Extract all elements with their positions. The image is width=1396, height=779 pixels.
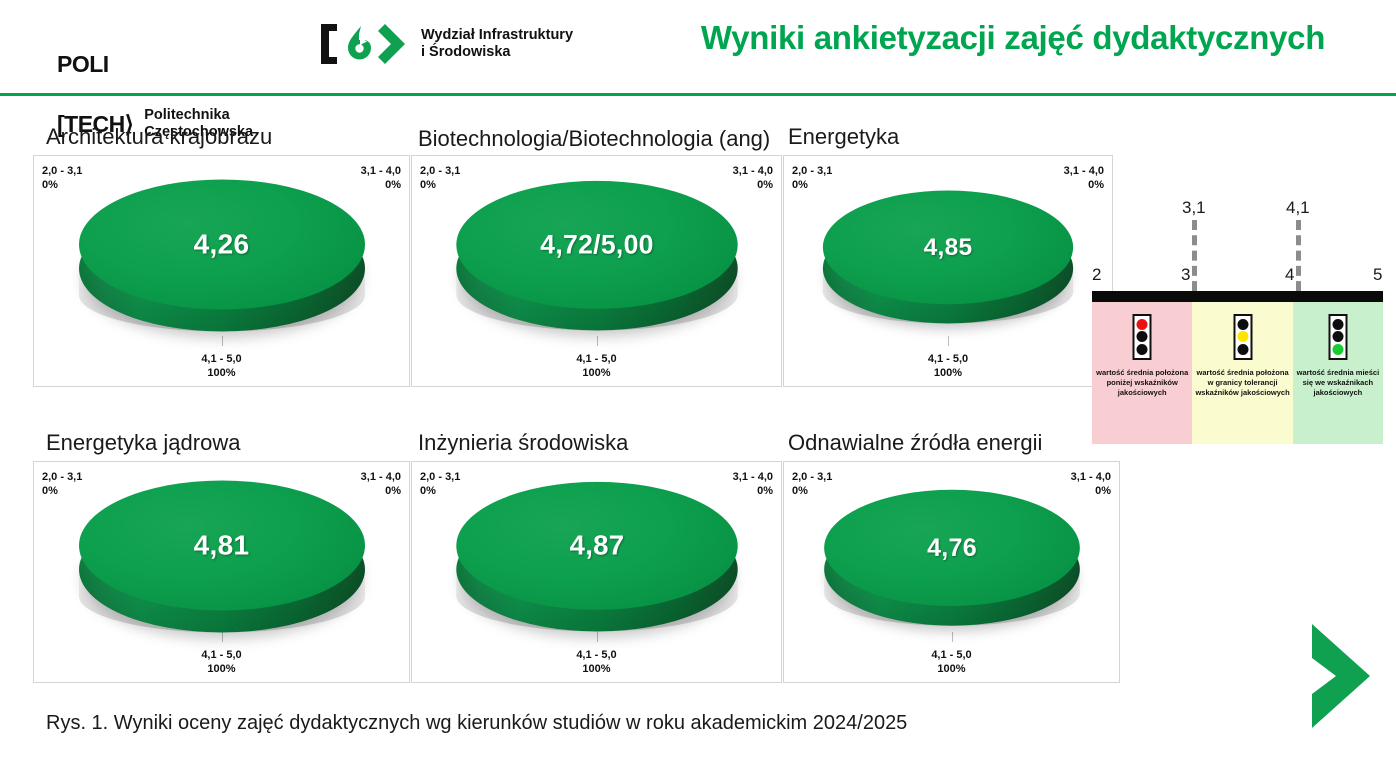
slice-label-low: 2,0 - 3,10% — [420, 164, 460, 192]
traffic-light-yellow-icon — [1233, 314, 1252, 360]
faculty-name: Wydział Infrastruktury i Środowiska — [421, 27, 573, 61]
chart-title: Biotechnologia/Biotechnologia (ang) — [418, 126, 770, 152]
slice-percent-low: 0% — [420, 484, 460, 498]
slice-percent-high: 100% — [412, 662, 781, 676]
slice-percent-mid: 0% — [733, 178, 773, 192]
pie-chart-card[interactable]: 2,0 - 3,10%3,1 - 4,00%4,1 - 5,0100%4,26 — [33, 155, 410, 387]
scale-band-caption-red: wartość średnia położona poniżej wskaźni… — [1094, 368, 1190, 398]
chart-title: Energetyka — [788, 124, 899, 150]
scale-band-yellow: wartość średnia położona w granicy toler… — [1192, 302, 1292, 444]
slice-label-mid: 3,1 - 4,00% — [361, 164, 401, 192]
chart-title: Odnawialne źródła energii — [788, 430, 1042, 456]
slice-label-mid: 3,1 - 4,00% — [361, 470, 401, 498]
slice-label-mid: 3,1 - 4,00% — [1064, 164, 1104, 192]
lamp-off-bottom — [1137, 344, 1148, 355]
pie-3d: 4,85 — [823, 190, 1073, 344]
slice-percent-mid: 0% — [733, 484, 773, 498]
scale-band-caption-green: wartość średnia mieści się we wskaźnikac… — [1295, 368, 1381, 398]
slice-range-mid: 3,1 - 4,0 — [1064, 165, 1104, 177]
lamp-green — [1332, 344, 1343, 355]
chart-title: Architektura krajobrazu — [46, 124, 272, 150]
slice-percent-high: 100% — [784, 366, 1112, 380]
axis-tick-5: 5 — [1373, 265, 1382, 285]
scale-band-green: wartość średnia mieści się we wskaźnikac… — [1293, 302, 1383, 444]
slice-percent-low: 0% — [42, 178, 82, 192]
slice-label-high: 4,1 - 5,0100% — [34, 352, 409, 380]
pie-chart-card[interactable]: 2,0 - 3,10%3,1 - 4,00%4,1 - 5,0100%4,76 — [783, 461, 1120, 683]
traffic-light-green-icon — [1328, 314, 1347, 360]
pie-mean-value: 4,26 — [79, 179, 365, 309]
chart-title: Energetyka jądrowa — [46, 430, 240, 456]
pie-chart-card[interactable]: 2,0 - 3,10%3,1 - 4,00%4,1 - 5,0100%4,85 — [783, 155, 1113, 387]
pie-mean-value: 4,87 — [456, 482, 737, 610]
slice-label-low: 2,0 - 3,10% — [792, 164, 832, 192]
slice-label-low: 2,0 - 3,10% — [420, 470, 460, 498]
slice-range-mid: 3,1 - 4,0 — [733, 471, 773, 483]
university-mark-line-1: POLI — [57, 54, 133, 74]
lamp-off-top — [1237, 319, 1248, 330]
slice-range-mid: 3,1 - 4,0 — [733, 165, 773, 177]
lamp-yellow — [1237, 331, 1248, 342]
lamp-red — [1137, 319, 1148, 330]
faculty-logo: Wydział Infrastruktury i Środowiska — [315, 20, 573, 68]
slice-percent-mid: 0% — [361, 484, 401, 498]
header-divider — [0, 93, 1396, 96]
slice-range-mid: 3,1 - 4,0 — [361, 165, 401, 177]
threshold-label-2: 4,1 — [1286, 198, 1310, 218]
slice-range-mid: 3,1 - 4,0 — [361, 471, 401, 483]
slice-label-high: 4,1 - 5,0100% — [784, 352, 1112, 380]
slice-range-high: 4,1 - 5,0 — [928, 353, 968, 365]
pie-chart-card[interactable]: 2,0 - 3,10%3,1 - 4,00%4,1 - 5,0100%4,72/… — [411, 155, 782, 387]
pie-3d: 4,81 — [79, 480, 365, 656]
figure-caption: Rys. 1. Wyniki oceny zajęć dydaktycznych… — [46, 712, 907, 735]
slice-label-low: 2,0 - 3,10% — [42, 164, 82, 192]
slice-percent-low: 0% — [42, 484, 82, 498]
pie-mean-value: 4,76 — [824, 490, 1080, 606]
slice-percent-high: 100% — [34, 366, 409, 380]
scale-bands: wartość średnia położona poniżej wskaźni… — [1092, 302, 1383, 444]
slice-range-low: 2,0 - 3,1 — [792, 165, 832, 177]
lamp-off-bottom — [1237, 344, 1248, 355]
university-name-line-1: Politechnika — [144, 107, 253, 124]
slice-label-high: 4,1 - 5,0100% — [412, 352, 781, 380]
pie-3d: 4,26 — [79, 179, 365, 355]
slice-percent-high: 100% — [784, 662, 1119, 676]
lamp-off-middle — [1137, 331, 1148, 342]
chevron-right-icon — [1296, 622, 1380, 730]
pie-chart-card[interactable]: 2,0 - 3,10%3,1 - 4,00%4,1 - 5,0100%4,87 — [411, 461, 782, 683]
axis-tick-4: 4 — [1285, 265, 1294, 285]
pie-chart-card[interactable]: 2,0 - 3,10%3,1 - 4,00%4,1 - 5,0100%4,81 — [33, 461, 410, 683]
quality-scale-legend: 3,1 4,1 2 3 4 5 wartość średnia położona… — [1092, 196, 1388, 456]
slice-label-mid: 3,1 - 4,00% — [733, 470, 773, 498]
slice-range-high: 4,1 - 5,0 — [931, 649, 971, 661]
slice-range-low: 2,0 - 3,1 — [42, 165, 82, 177]
faculty-name-line-1: Wydział Infrastruktury — [421, 27, 573, 44]
slice-label-mid: 3,1 - 4,00% — [733, 164, 773, 192]
slice-label-low: 2,0 - 3,10% — [42, 470, 82, 498]
lamp-off-middle — [1332, 331, 1343, 342]
pie-mean-value: 4,72/5,00 — [456, 181, 737, 309]
faculty-name-line-2: i Środowiska — [421, 44, 573, 61]
slice-range-low: 2,0 - 3,1 — [42, 471, 82, 483]
slice-range-low: 2,0 - 3,1 — [420, 165, 460, 177]
axis-tick-3: 3 — [1181, 265, 1190, 285]
pie-mean-value: 4,85 — [823, 190, 1073, 304]
slice-range-high: 4,1 - 5,0 — [576, 353, 616, 365]
threshold-label-1: 3,1 — [1182, 198, 1206, 218]
slice-percent-low: 0% — [420, 178, 460, 192]
pie-3d: 4,76 — [824, 490, 1080, 647]
slice-label-high: 4,1 - 5,0100% — [784, 648, 1119, 676]
pie-3d: 4,72/5,00 — [456, 181, 737, 354]
axis-tick-2: 2 — [1092, 265, 1101, 285]
chart-title: Inżynieria środowiska — [418, 430, 628, 456]
pie-mean-value: 4,81 — [79, 480, 365, 610]
slice-range-mid: 3,1 - 4,0 — [1071, 471, 1111, 483]
scale-band-caption-yellow: wartość średnia położona w granicy toler… — [1194, 368, 1290, 398]
page-title: Wyniki ankietyzacji zajęć dydaktycznych — [640, 18, 1386, 58]
page-header: POLI [TECH⟩ NIKA Politechnika Częstochow… — [0, 0, 1396, 95]
slice-percent-high: 100% — [412, 366, 781, 380]
slice-range-low: 2,0 - 3,1 — [792, 471, 832, 483]
lamp-off-top — [1332, 319, 1343, 330]
traffic-light-red-icon — [1133, 314, 1152, 360]
water-drop-recycle-icon — [315, 20, 411, 68]
slice-percent-mid: 0% — [361, 178, 401, 192]
scale-axis-bar — [1092, 291, 1383, 302]
slice-range-low: 2,0 - 3,1 — [420, 471, 460, 483]
scale-band-red: wartość średnia położona poniżej wskaźni… — [1092, 302, 1192, 444]
pie-3d: 4,87 — [456, 482, 737, 655]
slice-percent-high: 100% — [34, 662, 409, 676]
